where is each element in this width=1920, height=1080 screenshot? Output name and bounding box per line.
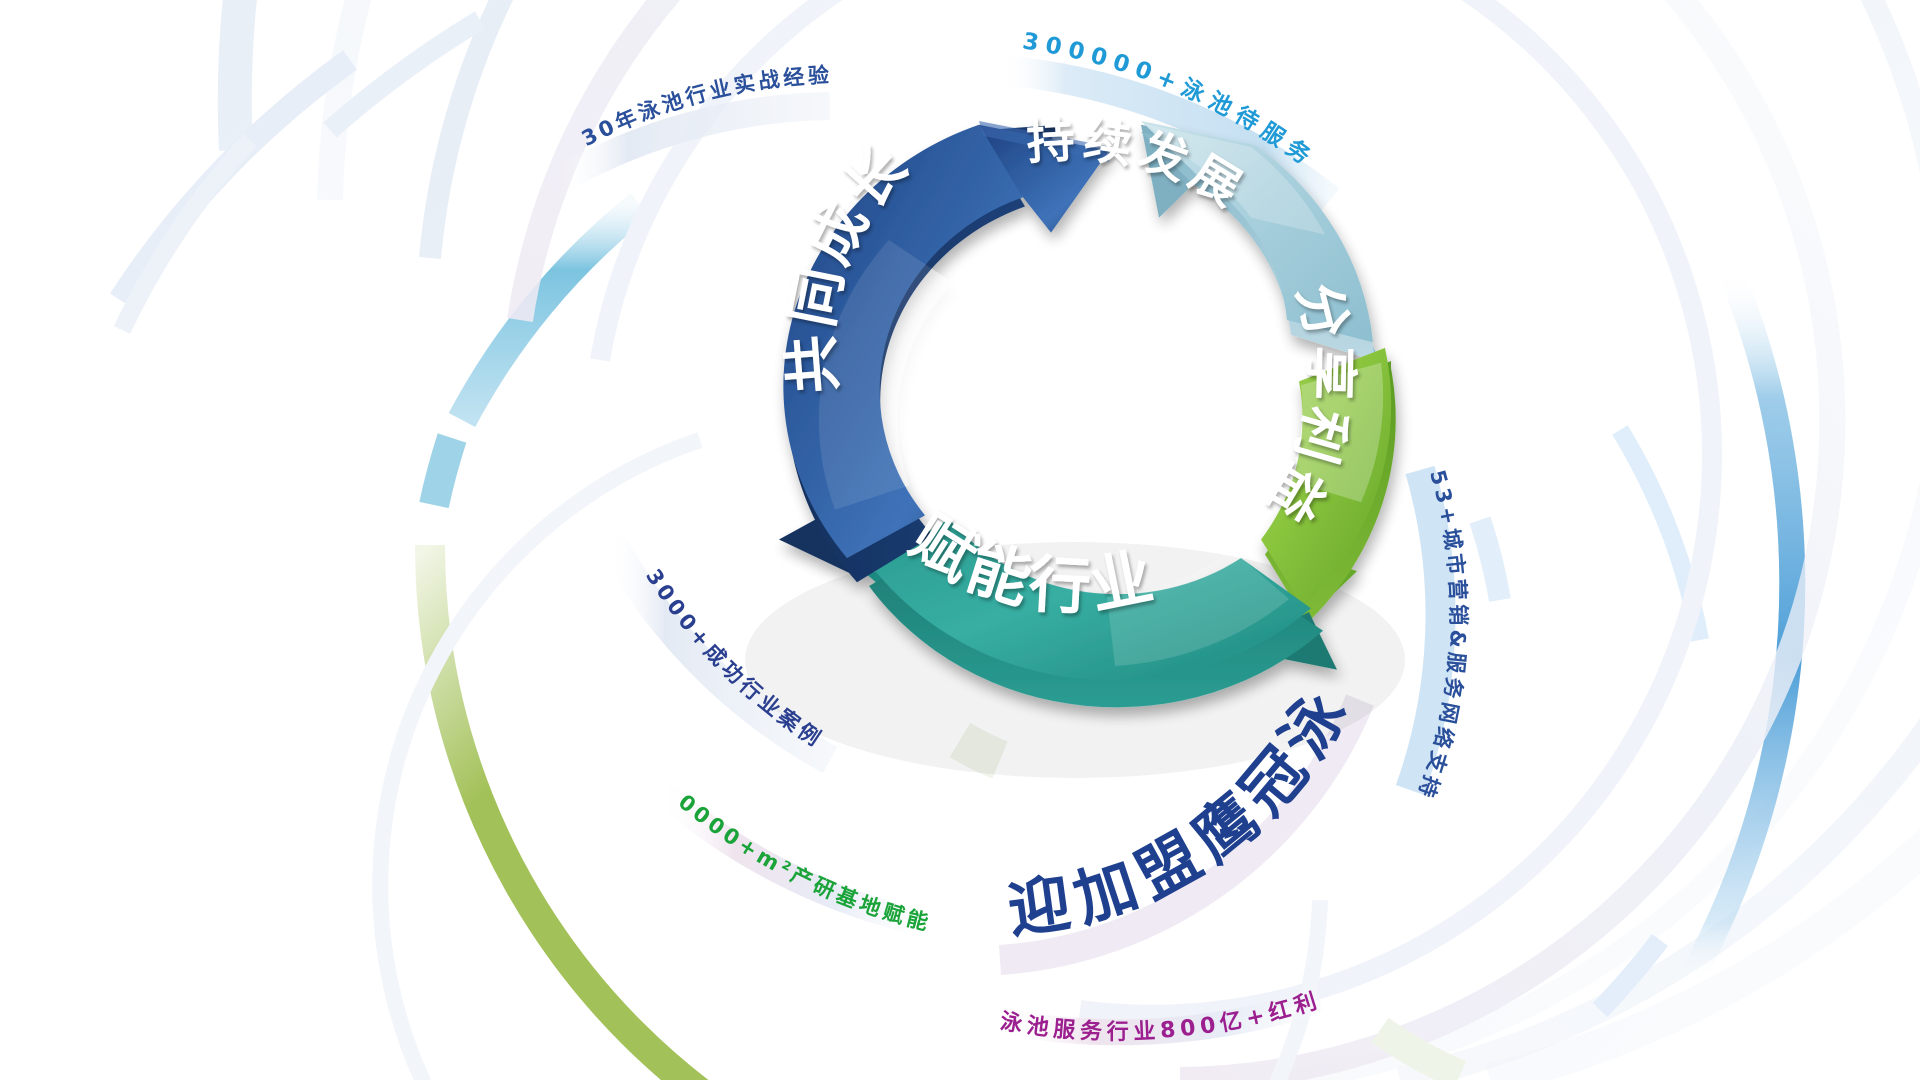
poster-canvas: 共同成长 持续发展 分享利益 赋能行业 30年泳池行业实战经验 300000+泳… bbox=[0, 0, 1920, 1080]
stat-text-base: 70000+m²产研基地赋能 bbox=[0, 0, 934, 936]
stat-text-network: 53+城市营销&服务网络支持 bbox=[1413, 467, 1470, 804]
stat-text-pools: 300000+泳池待服务 bbox=[1021, 28, 1321, 173]
stat-text-experience: 30年泳池行业实战经验 bbox=[578, 63, 833, 151]
stat-text-market: 泳池服务行业800亿+红利 bbox=[998, 988, 1324, 1045]
stat-text-layer: 30年泳池行业实战经验 300000+泳池待服务 53+城市营销&服务网络支持 … bbox=[0, 0, 1920, 1080]
stat-text-cases: 3000+成功行业案例 bbox=[641, 565, 827, 753]
